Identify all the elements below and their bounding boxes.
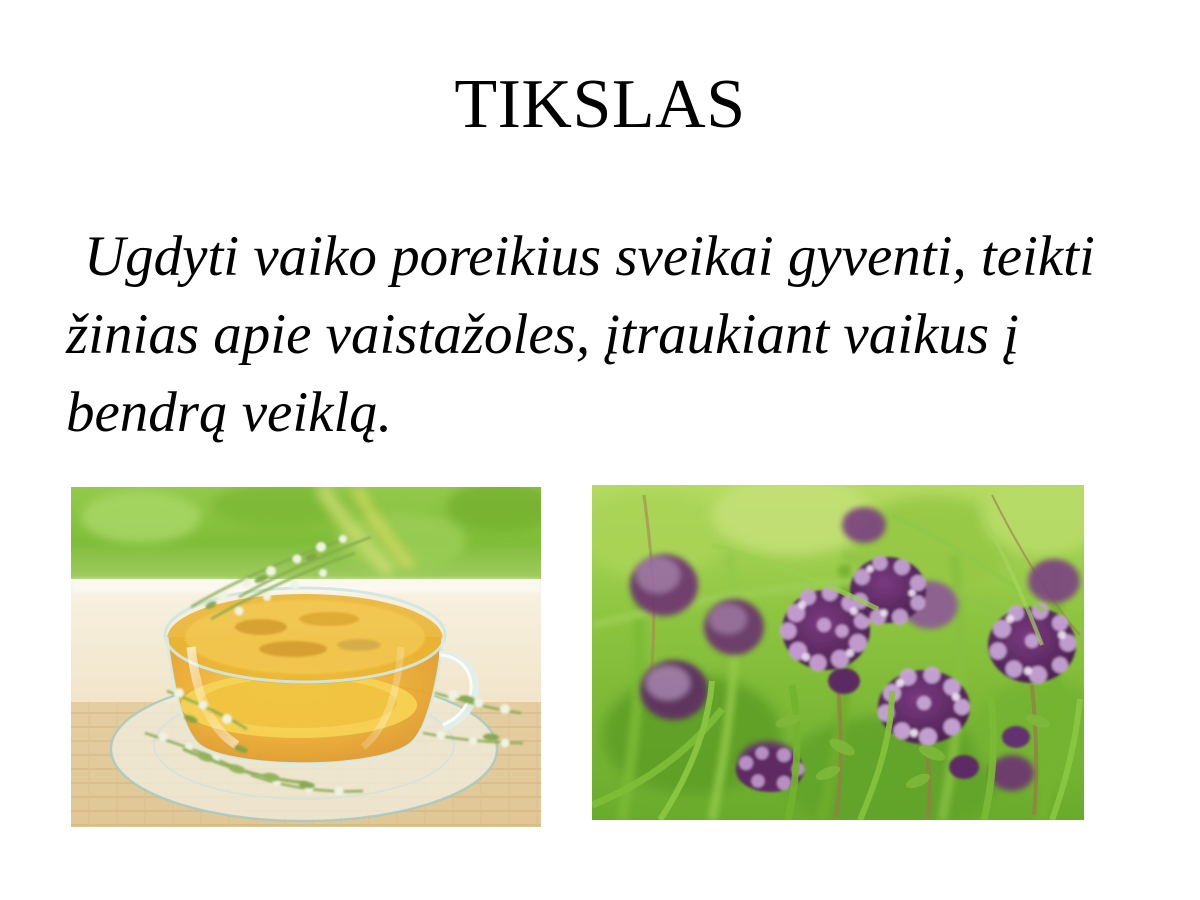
page-title: TIKSLAS [0, 68, 1200, 142]
wild-thyme-flowers-photo: Close-up of purple wild thyme flower hea… [592, 485, 1084, 820]
herbal-tea-cup-photo: Glass cup of golden herbal thyme tea wit… [71, 487, 541, 827]
presentation-slide: TIKSLAS Ugdyti vaiko poreikius sveikai g… [0, 0, 1200, 900]
slide-body-text: Ugdyti vaiko poreikius sveikai gyventi, … [66, 218, 1156, 452]
